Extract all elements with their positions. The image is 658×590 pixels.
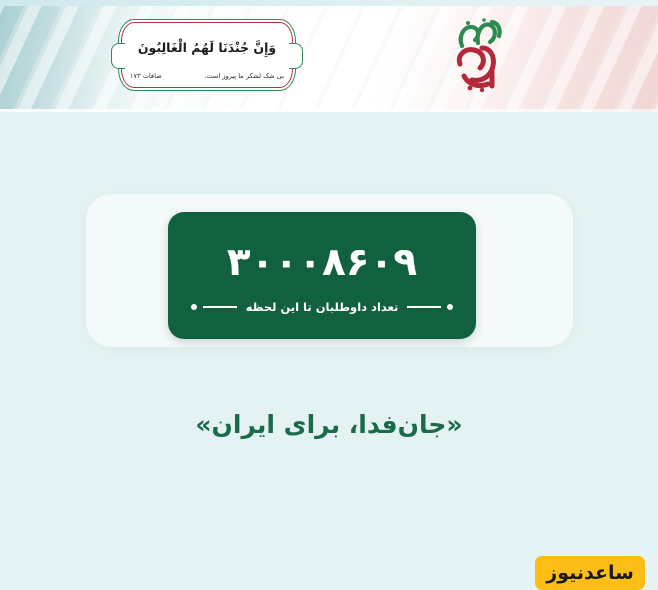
verse-arabic-text: وَإِنَّ جُنْدَنَا لَهُمُ الْغَالِبُونَ <box>138 40 276 55</box>
jan-feda-logo-icon <box>448 12 510 100</box>
quran-verse-plaque: وَإِنَّ جُنْدَنَا لَهُمُ الْغَالِبُونَ ب… <box>118 19 296 91</box>
campaign-tagline: «جان‌فدا، برای ایران» <box>0 410 658 439</box>
volunteer-counter-card: ۳۰۰۰۸۶۰۹ تعداد داوطلبان تا این لحظه <box>168 212 476 339</box>
verse-citation-text: صافات ۱۷۳ <box>130 72 162 80</box>
watermark-label: ساعدنیوز <box>546 564 634 583</box>
ornament-right-icon <box>407 304 453 310</box>
volunteer-count-caption: تعداد داوطلبان تا این لحظه <box>246 300 399 314</box>
saednews-watermark-badge: ساعدنیوز <box>535 556 645 590</box>
plaque-subrow: بی شک لشکر ما پیروز است. صافات ۱۷۳ <box>130 72 284 80</box>
page-root: وَإِنَّ جُنْدَنَا لَهُمُ الْغَالِبُونَ ب… <box>0 0 658 489</box>
header-diagonal-stripe-texture <box>0 6 658 112</box>
main-content: ۳۰۰۰۸۶۰۹ تعداد داوطلبان تا این لحظه «جان… <box>0 112 658 489</box>
volunteer-count-value: ۳۰۰۰۸۶۰۹ <box>227 243 417 282</box>
plaque-content: وَإِنَّ جُنْدَنَا لَهُمُ الْغَالِبُونَ ب… <box>118 19 296 91</box>
verse-translation-text: بی شک لشکر ما پیروز است. <box>204 72 284 80</box>
ornament-left-icon <box>191 304 237 310</box>
header-banner <box>0 6 658 112</box>
counter-caption-row: تعداد داوطلبان تا این لحظه <box>168 300 476 314</box>
